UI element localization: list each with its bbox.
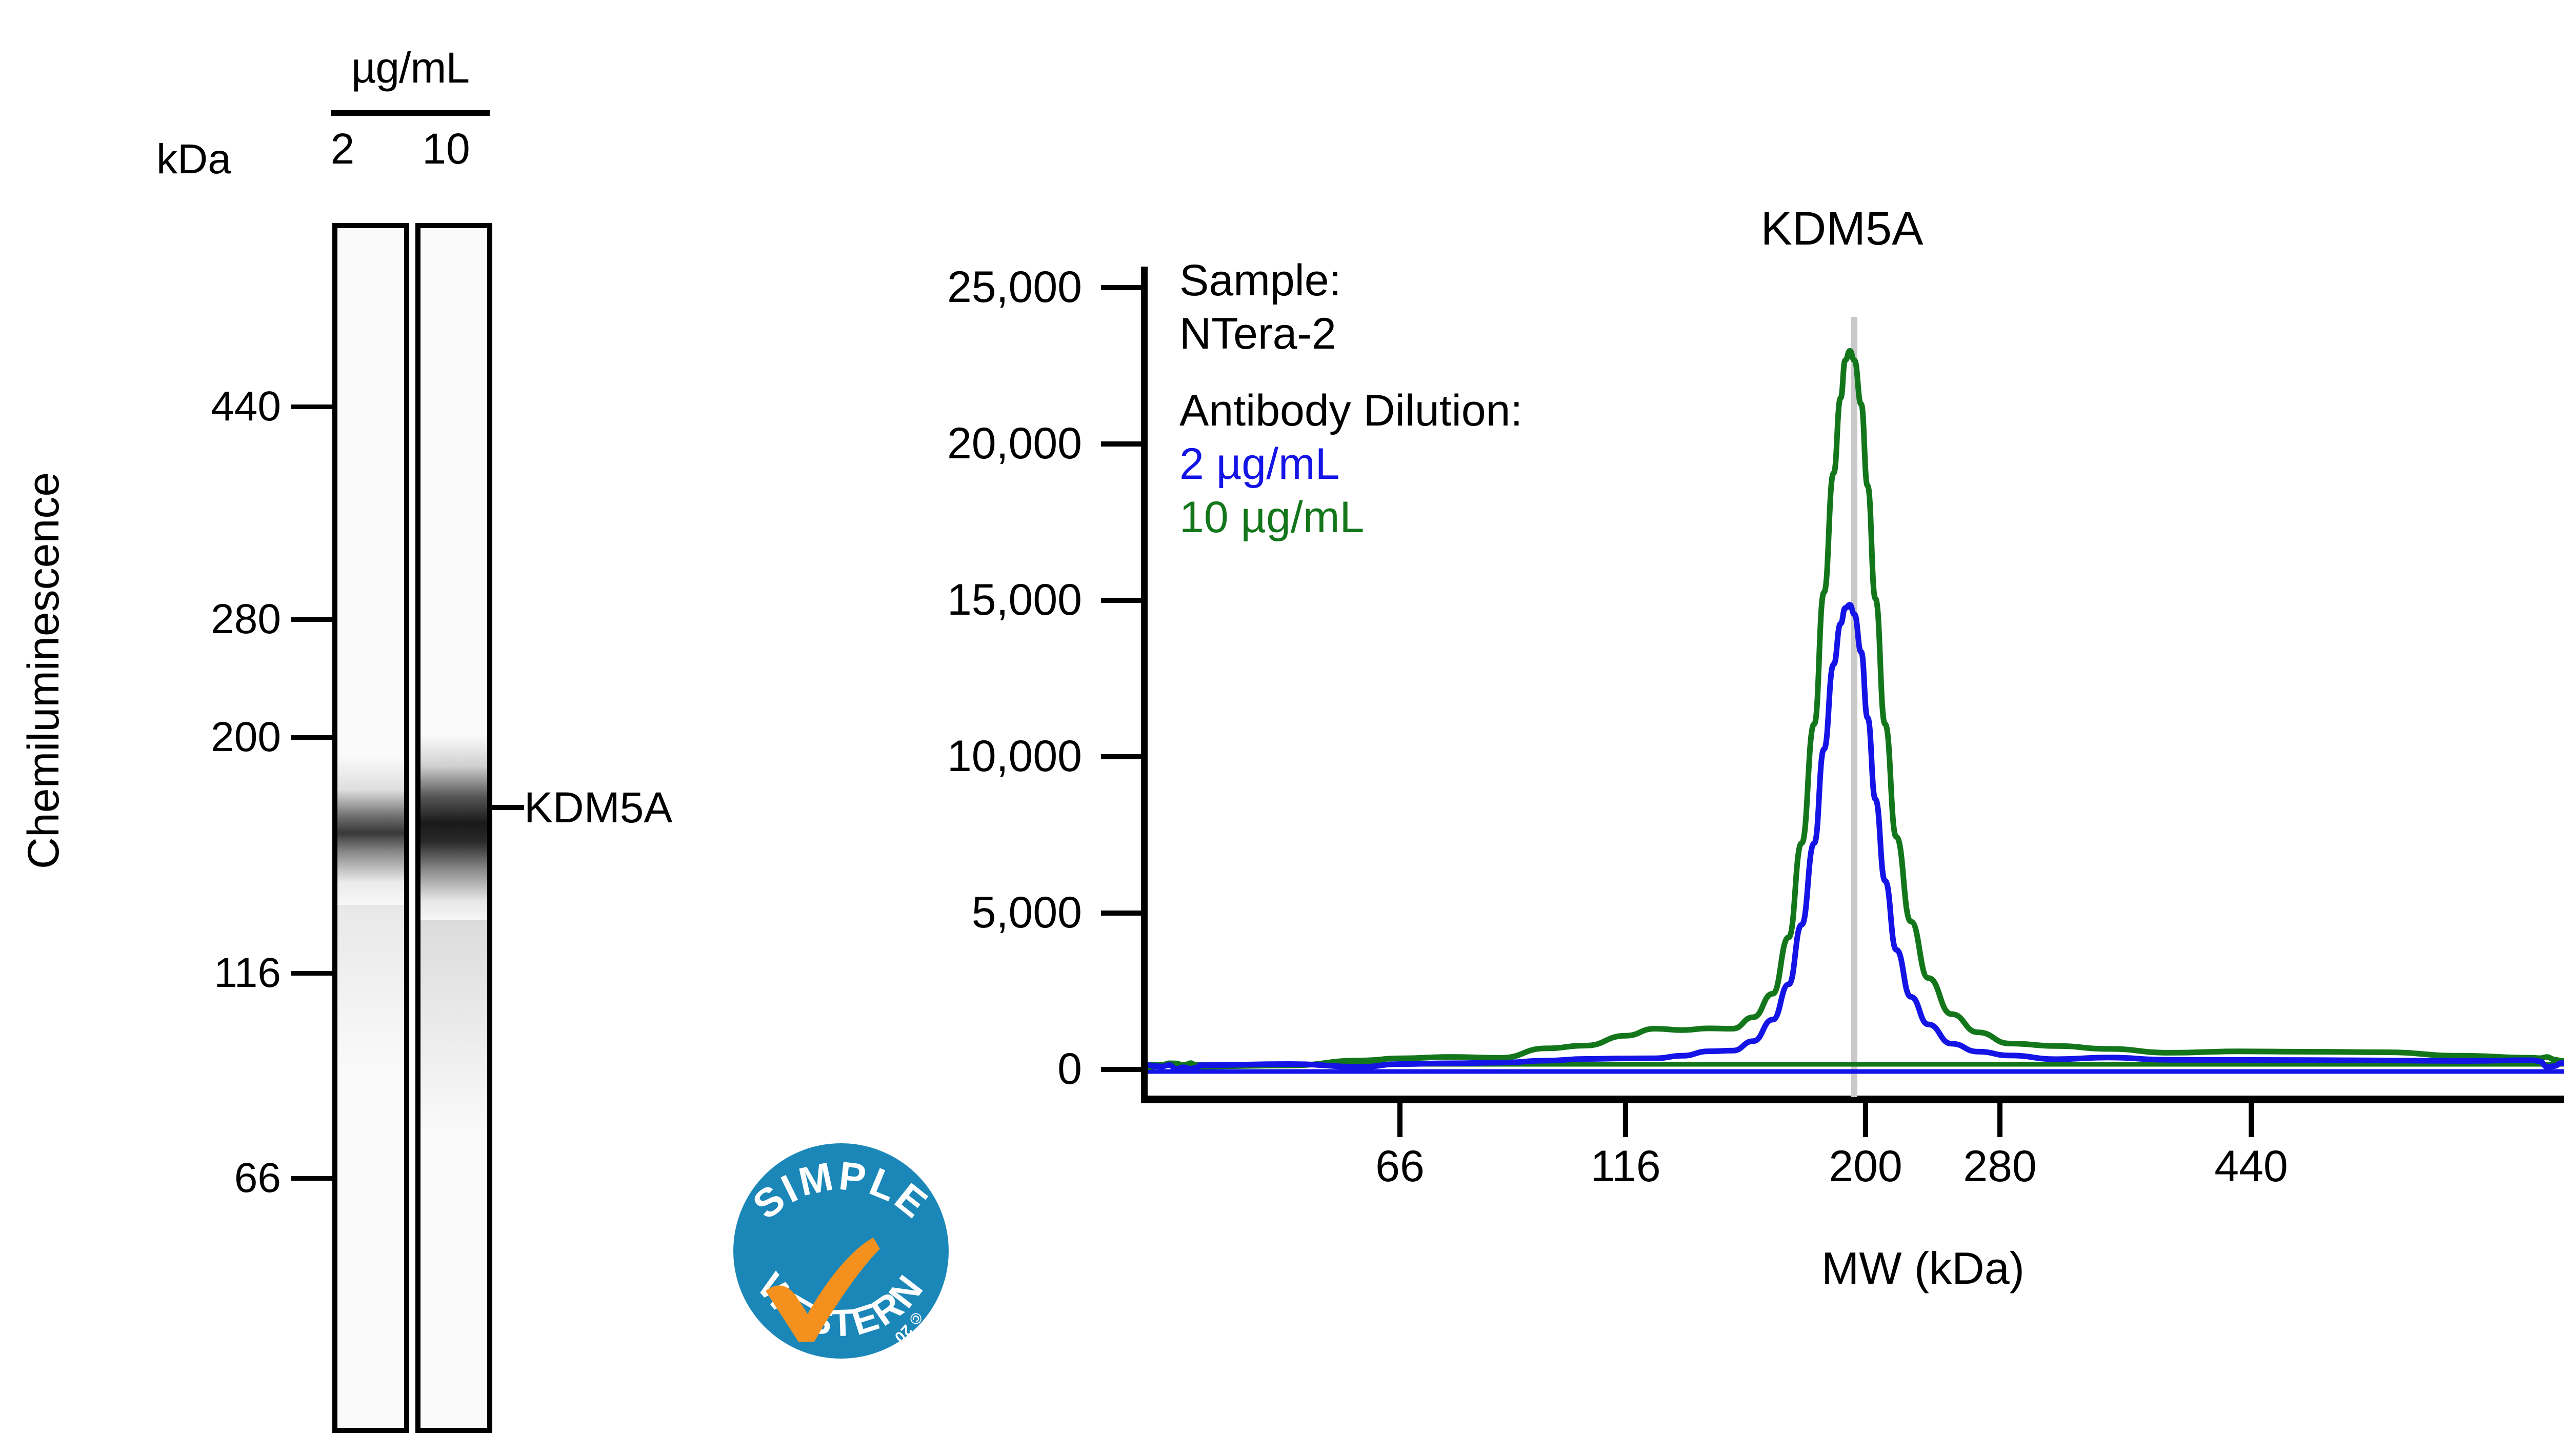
trace-svg [0, 0, 2564, 1456]
trace-10ugml [1148, 351, 2564, 1067]
trace-2ugml [1148, 605, 2564, 1069]
